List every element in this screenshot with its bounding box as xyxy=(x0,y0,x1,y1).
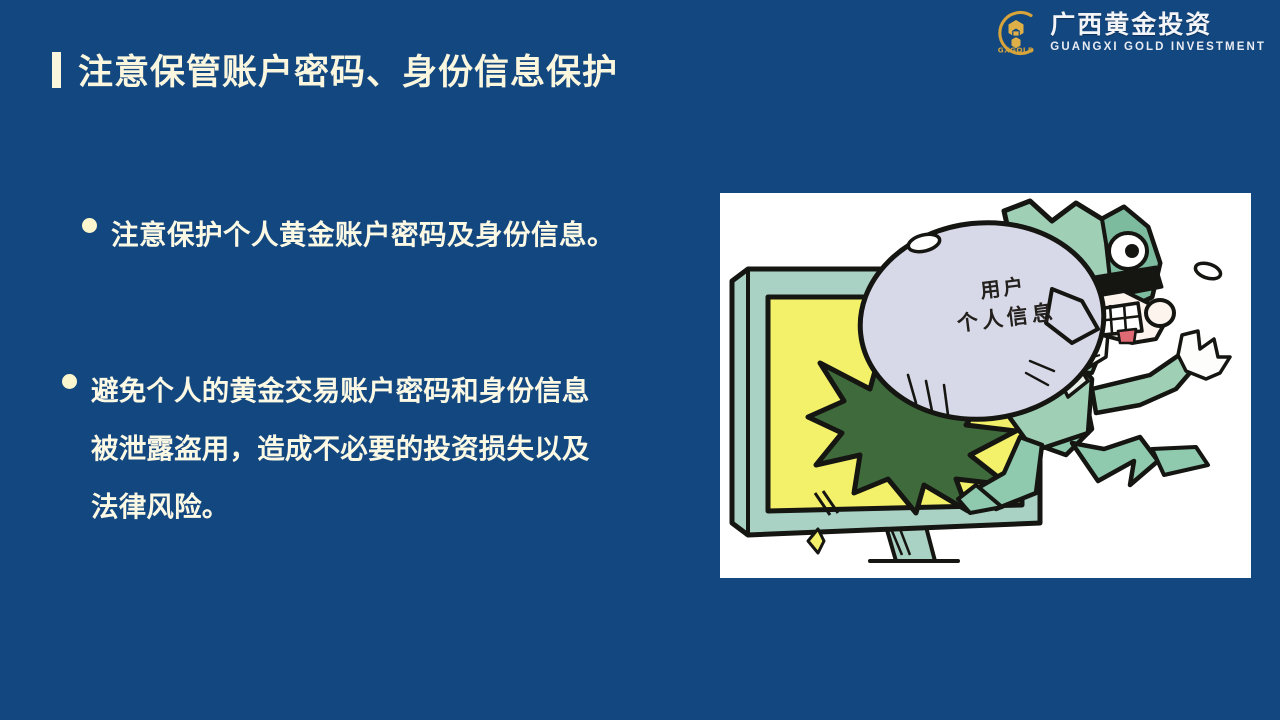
bullet-text-2-line2: 被泄露盗用，造成不必要的投资损失以及 xyxy=(91,433,590,465)
bullet-text-2-line1: 避免个人的黄金交易账户密码和身份信息 xyxy=(91,375,590,407)
bullet-text-2: 避免个人的黄金交易账户密码和身份信息 被泄露盗用，造成不必要的投资损失以及 法律… xyxy=(91,362,590,536)
bullet-dot-icon xyxy=(82,218,97,233)
gxgold-emblem-icon: GXGOLD xyxy=(990,7,1042,59)
company-name-en: GUANGXI GOLD INVESTMENT xyxy=(1050,42,1266,54)
page-title: 注意保管账户密码、身份信息保护 xyxy=(78,44,618,95)
emblem-text: GXGOLD xyxy=(998,46,1034,55)
company-name-cn: 广西黄金投资 xyxy=(1050,12,1266,37)
bullet-text-2-line3: 法律风险。 xyxy=(91,491,230,523)
brand-logo: GXGOLD 广西黄金投资 GUANGXI GOLD INVESTMENT xyxy=(990,4,1266,62)
bullet-list: 注意保护个人黄金账户密码及身份信息。 避免个人的黄金交易账户密码和身份信息 被泄… xyxy=(70,206,710,536)
title-accent-bar xyxy=(52,52,61,88)
slide-title: 注意保管账户密码、身份信息保护 xyxy=(52,44,618,95)
bullet-text-1: 注意保护个人黄金账户密码及身份信息。 xyxy=(111,206,615,264)
list-item: 注意保护个人黄金账户密码及身份信息。 xyxy=(82,206,710,264)
bullet-dot-icon xyxy=(62,374,77,389)
slide-root: GXGOLD 广西黄金投资 GUANGXI GOLD INVESTMENT 注意… xyxy=(0,0,1280,720)
illustration-image: 用户 个人信息 xyxy=(720,193,1251,578)
list-item: 避免个人的黄金交易账户密码和身份信息 被泄露盗用，造成不必要的投资损失以及 法律… xyxy=(62,362,710,536)
logo-wordmark: 广西黄金投资 GUANGXI GOLD INVESTMENT xyxy=(1050,12,1266,54)
